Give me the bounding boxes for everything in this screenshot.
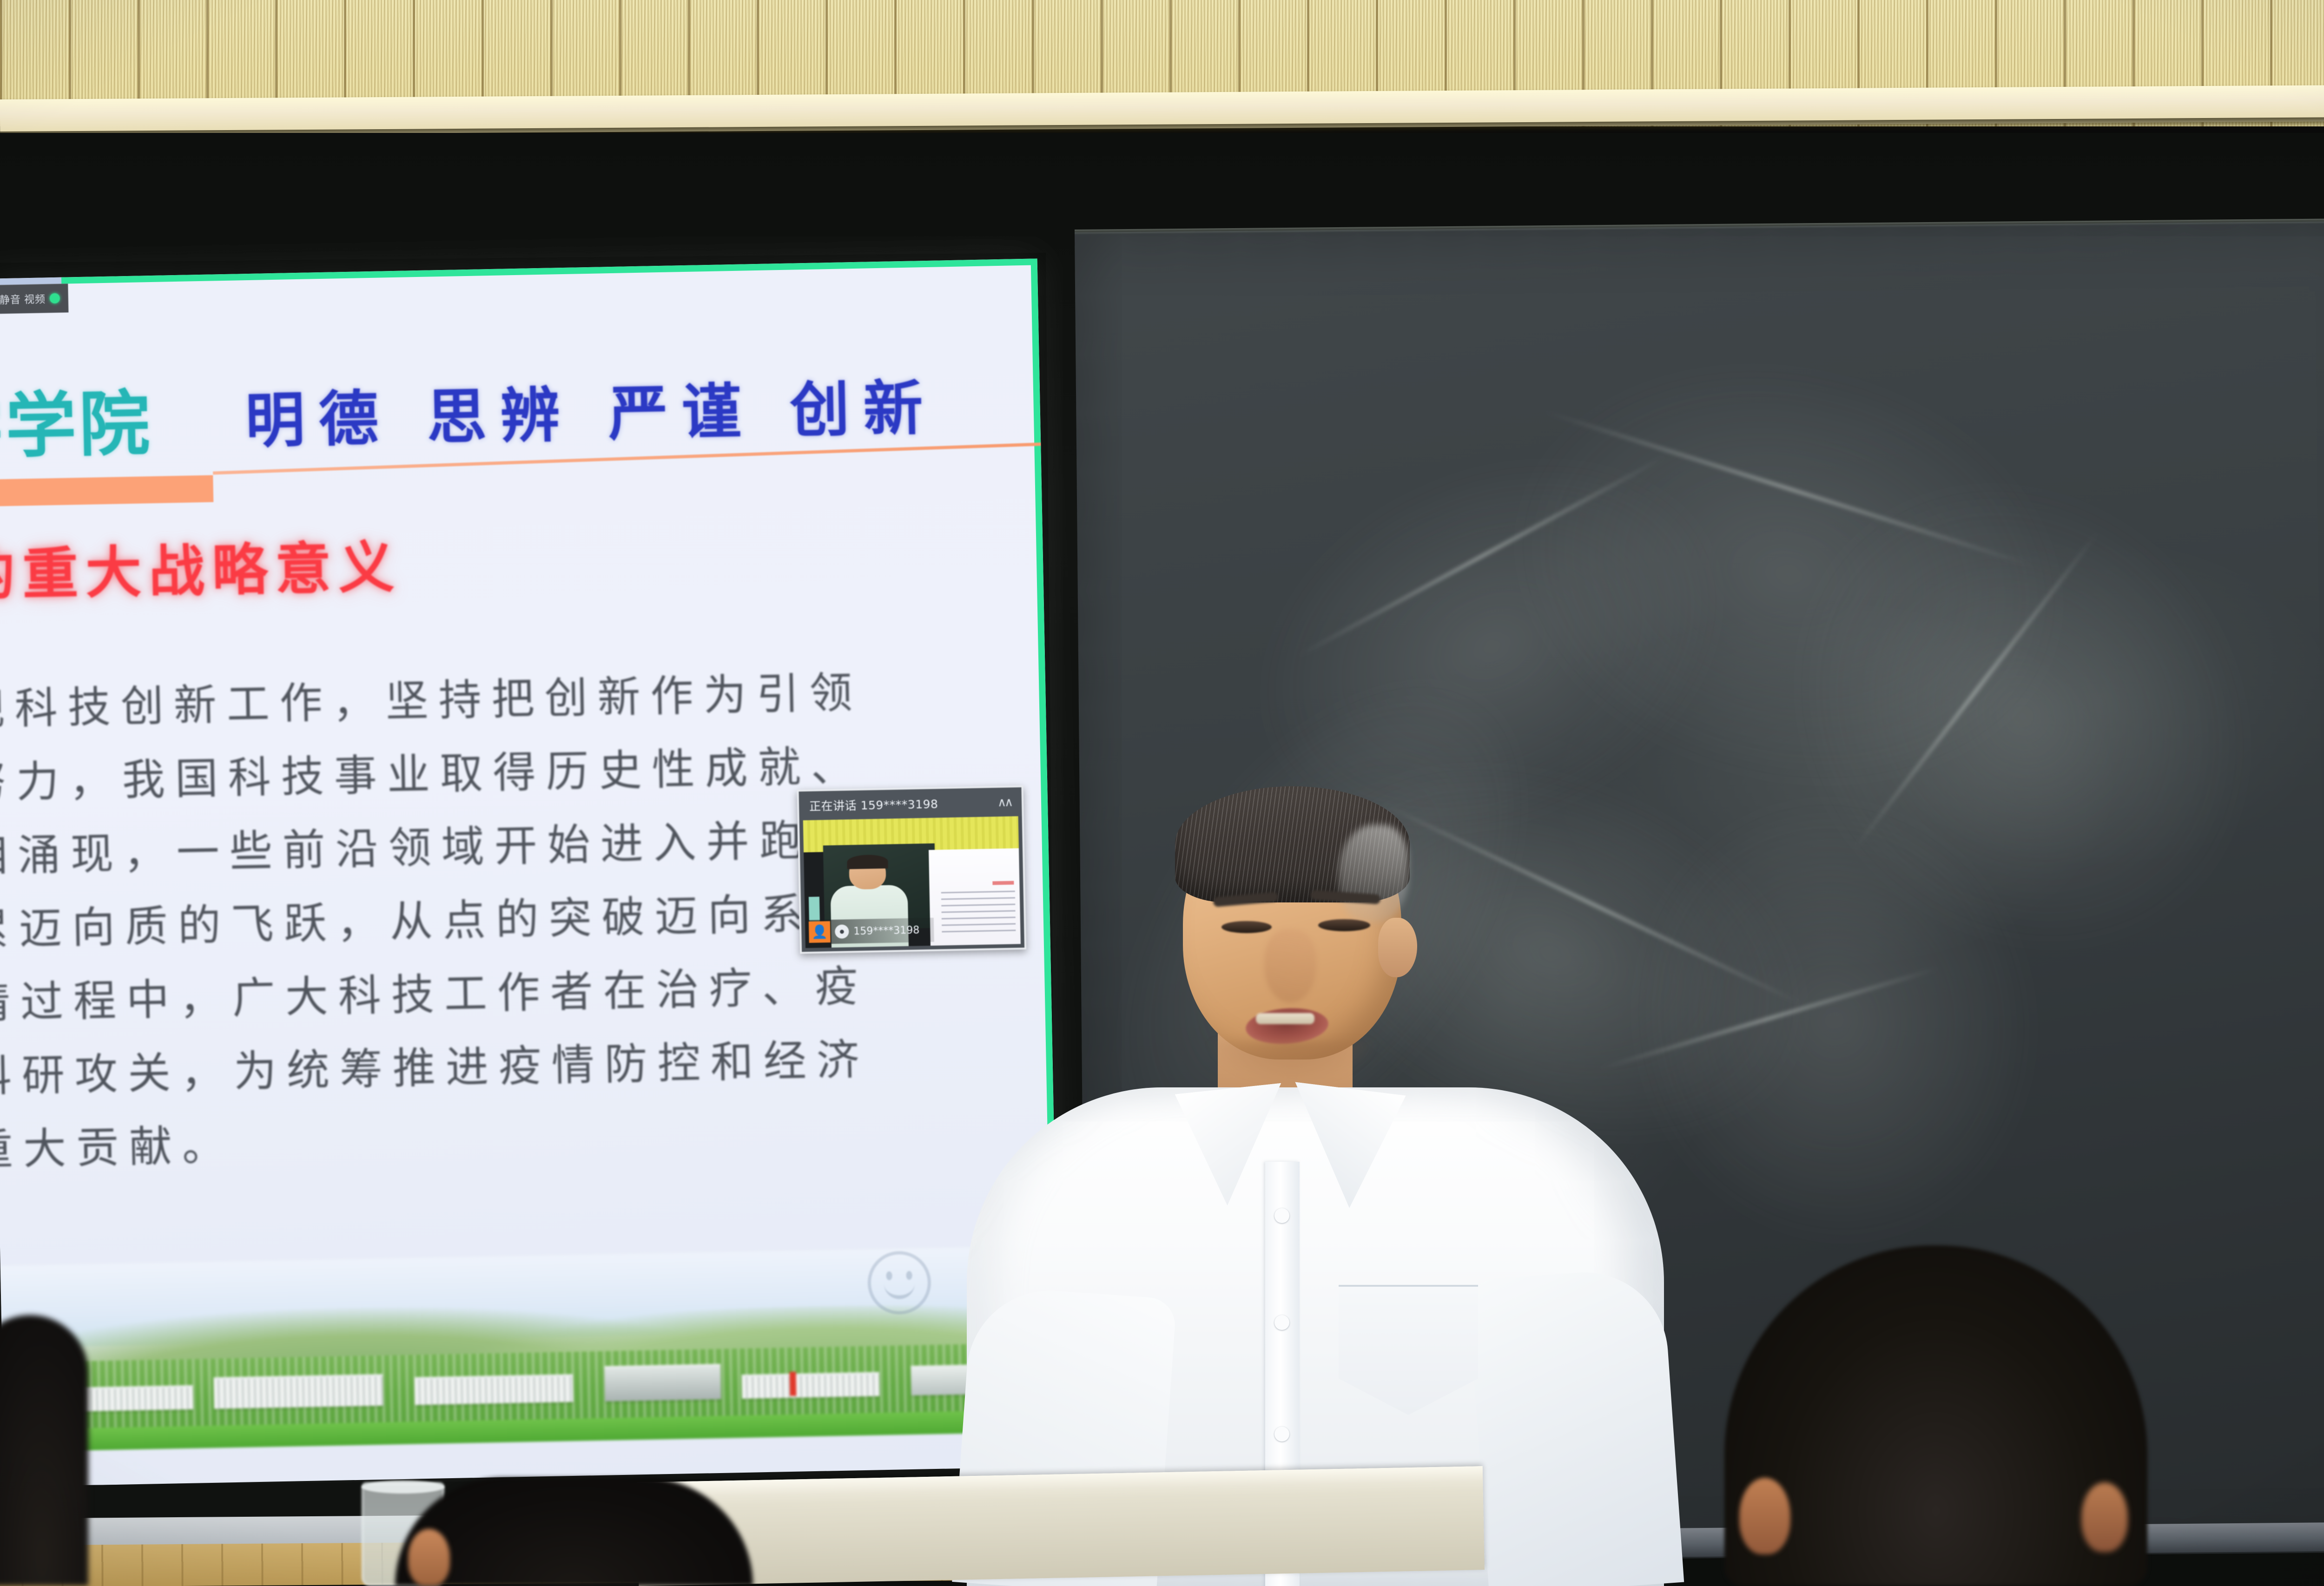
speaker-teeth (1256, 1013, 1314, 1024)
accent-block (0, 475, 213, 507)
audience-ear-right-2 (2081, 1482, 2128, 1552)
shirt-button (1274, 1427, 1289, 1441)
drinking-glass-rim (362, 1481, 444, 1494)
campus-building (214, 1374, 383, 1409)
speaker-gray-hair (1339, 825, 1408, 922)
lecture-hall-scene: 静音 视频 学学院 明德 思辨 严谨 创新 的重大战略意义 视科技创新工作，坚持… (0, 0, 2324, 1586)
pip-footer: 👤 ● 159****3198 (809, 918, 934, 944)
audience-ear-left (408, 1529, 450, 1586)
speaker-person (920, 744, 1710, 1586)
audience-ear-right (1739, 1478, 1790, 1554)
campus-building (742, 1372, 879, 1399)
school-motto: 明德 思辨 严谨 创新 (244, 359, 938, 459)
slide-title: 的重大战略意义 (0, 522, 403, 611)
podium (637, 1466, 1485, 1586)
pip-person-hair (847, 855, 888, 869)
microphone-icon: ● (835, 924, 849, 939)
campus-building (415, 1374, 574, 1405)
speaker-chin-shadow (1208, 1041, 1376, 1083)
smiley-eye (906, 1271, 912, 1280)
campus-flag (789, 1372, 796, 1396)
speaker-eye (1221, 921, 1272, 933)
speaker-ear (1378, 918, 1417, 977)
speaker-nose (1264, 929, 1316, 1003)
smiley-eye (886, 1271, 892, 1280)
shirt-button (1274, 1208, 1289, 1223)
person-icon: 👤 (809, 921, 831, 943)
audience-head-far-left (0, 1315, 88, 1586)
shirt-button (1274, 1315, 1289, 1330)
meeting-toolbar-label: 静音 视频 (0, 291, 46, 307)
projection-screen: 静音 视频 学学院 明德 思辨 严谨 创新 的重大战略意义 视科技创新工作，坚持… (0, 258, 1060, 1487)
pip-participant-name: 159****3198 (853, 924, 919, 937)
speaker-arm-right (1467, 1267, 1684, 1586)
status-dot-icon (50, 293, 60, 303)
campus-building (604, 1364, 721, 1402)
meeting-mini-toolbar[interactable]: 静音 视频 (0, 283, 68, 314)
speaker-eye (1318, 919, 1370, 931)
smiley-mouth (884, 1281, 915, 1299)
pip-speaking-label: 正在讲话 159****3198 (809, 795, 938, 814)
department-name: 学学院 (0, 366, 153, 473)
slide-header: 学学院 明德 思辨 严谨 创新 (0, 342, 1045, 479)
